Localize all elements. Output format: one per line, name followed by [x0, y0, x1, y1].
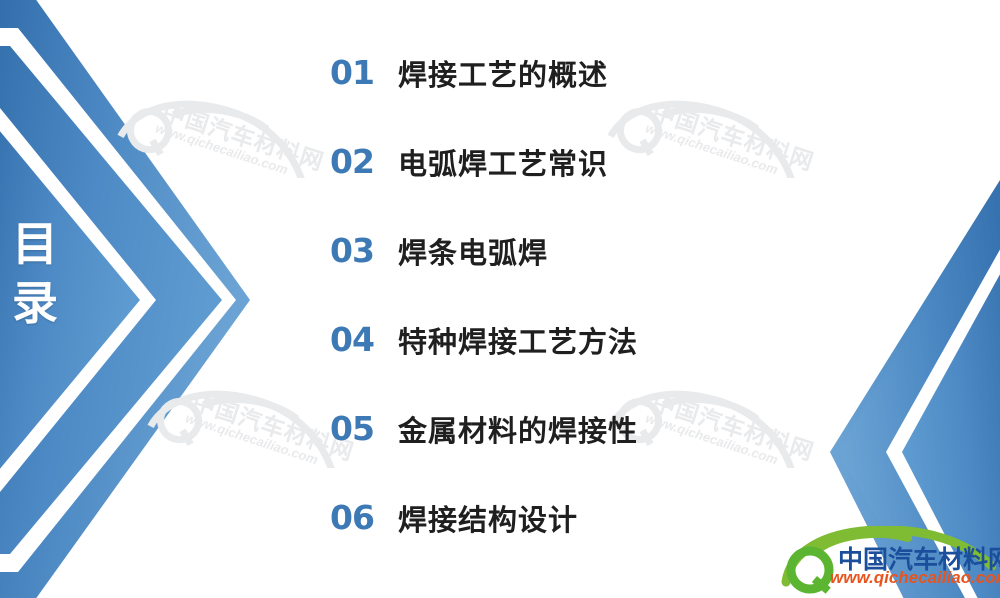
watermark-1: 中国汽车材料网 www.qichecailiao.com: [112, 58, 342, 178]
agenda-item-04[interactable]: 04 特种焊接工艺方法: [330, 295, 890, 384]
agenda-item-label: 焊条电弧焊: [398, 230, 548, 272]
agenda-item-number: 03: [330, 231, 398, 270]
page-title-char-2: 录: [6, 274, 64, 333]
agenda-item-03[interactable]: 03 焊条电弧焊: [330, 206, 890, 295]
agenda-item-05[interactable]: 05 金属材料的焊接性: [330, 384, 890, 473]
agenda-item-label: 金属材料的焊接性: [398, 408, 638, 450]
page-title-char-1: 目: [6, 215, 64, 274]
slide-canvas: 中国汽车材料网 www.qichecailiao.com 中国汽车材料网 www…: [0, 0, 1000, 598]
agenda-item-number: 02: [330, 142, 398, 181]
agenda-item-01[interactable]: 01 焊接工艺的概述: [330, 28, 890, 117]
brand-url: www.qichecailiao.com: [830, 568, 1000, 588]
agenda-item-label: 焊接结构设计: [398, 497, 578, 539]
brand-logo[interactable]: 中国汽车材料网 www.qichecailiao.com: [780, 526, 996, 596]
agenda-item-number: 05: [330, 409, 398, 448]
agenda-list: 01 焊接工艺的概述 02 电弧焊工艺常识 03 焊条电弧焊 04 特种焊接工艺…: [330, 28, 890, 562]
agenda-item-label: 电弧焊工艺常识: [398, 141, 608, 183]
watermark-url: www.qichecailiao.com: [184, 410, 320, 467]
agenda-item-number: 06: [330, 498, 398, 537]
watermark-name: 中国汽车材料网: [159, 93, 329, 177]
page-title: 目 录: [6, 215, 64, 333]
agenda-item-label: 焊接工艺的概述: [398, 52, 608, 94]
agenda-item-number: 01: [330, 53, 398, 92]
agenda-item-label: 特种焊接工艺方法: [398, 319, 638, 361]
agenda-item-02[interactable]: 02 电弧焊工艺常识: [330, 117, 890, 206]
watermark-url: www.qichecailiao.com: [154, 120, 290, 177]
agenda-item-number: 04: [330, 320, 398, 359]
